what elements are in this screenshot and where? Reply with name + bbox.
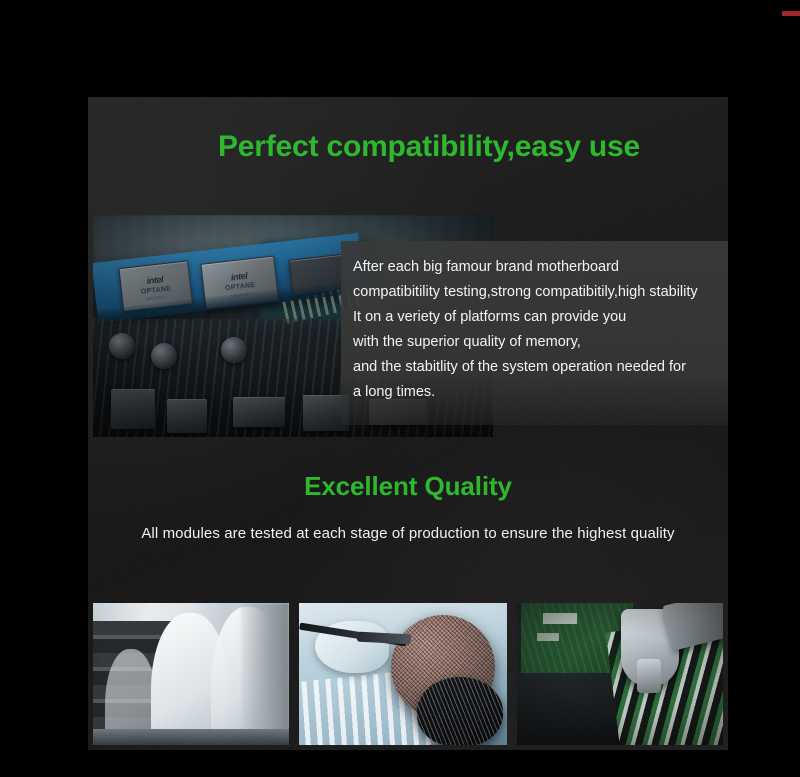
description-line: After each big famour brand motherboard	[353, 255, 728, 280]
description-line: compatibitility testing,strong compatibi…	[353, 280, 728, 305]
cleanroom-assembly-photo	[93, 603, 289, 745]
section-title-quality: Excellent Quality	[88, 471, 728, 502]
quality-subtext: All modules are tested at each stage of …	[88, 525, 728, 542]
wafer-inspection-photo	[299, 603, 507, 745]
page-title: Perfect compatibility,easy use	[218, 130, 640, 164]
feature-panel: Perfect compatibility,easy use intel OPT…	[88, 97, 728, 750]
cleanroom-equipment	[241, 603, 289, 745]
description-overlay: After each big famour brand motherboard …	[341, 241, 728, 425]
description-line: and the stabitlity of the system operati…	[353, 355, 728, 380]
photo-strip	[93, 603, 723, 745]
description-line: with the superior quality of memory,	[353, 330, 728, 355]
description-line: a long times.	[353, 380, 728, 405]
silicon-wafer-stack	[417, 677, 503, 745]
conveyor-rail	[93, 729, 289, 745]
pcb-assembly-line-photo	[517, 603, 723, 745]
description-line: It on a veriety of platforms can provide…	[353, 305, 728, 330]
photo-vignette	[517, 603, 723, 745]
page-root: Perfect compatibility,easy use intel OPT…	[0, 0, 800, 777]
red-marker-sliver	[782, 11, 800, 16]
